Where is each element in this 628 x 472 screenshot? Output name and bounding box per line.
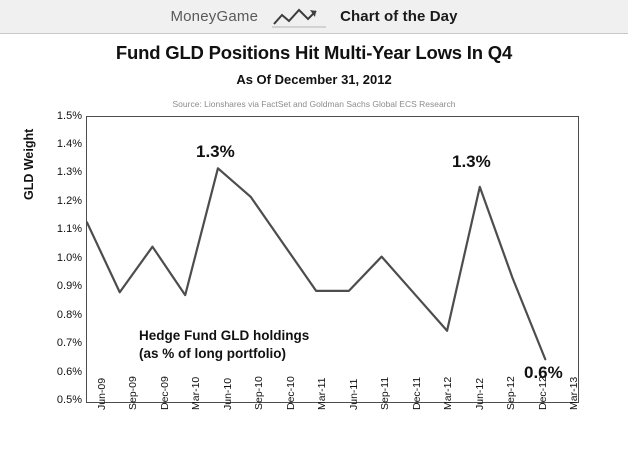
x-tick-label: Dec-09 bbox=[159, 376, 171, 410]
page-title: Fund GLD Positions Hit Multi-Year Lows I… bbox=[0, 42, 628, 64]
line-chart-arrow-icon bbox=[272, 6, 326, 28]
y-tick-label: 0.7% bbox=[40, 337, 82, 349]
chart-page: MoneyGame Chart of the Day Fund GLD Posi… bbox=[0, 0, 628, 472]
x-tick-label: Jun-12 bbox=[474, 378, 486, 410]
x-tick-label: Sep-12 bbox=[505, 376, 517, 410]
y-tick-label: 1.5% bbox=[40, 110, 82, 122]
x-tick-label: Jun-10 bbox=[222, 378, 234, 410]
y-tick-label: 1.0% bbox=[40, 252, 82, 264]
brand-label: MoneyGame bbox=[170, 8, 258, 25]
y-tick-label: 1.3% bbox=[40, 166, 82, 178]
header-inner: MoneyGame Chart of the Day bbox=[170, 6, 457, 28]
annotation-peak-2010: 1.3% bbox=[196, 142, 235, 162]
y-tick-label: 0.9% bbox=[40, 280, 82, 292]
y-tick-label: 1.2% bbox=[40, 195, 82, 207]
x-tick-label: Mar-10 bbox=[190, 377, 202, 410]
x-tick-label: Sep-09 bbox=[127, 376, 139, 410]
x-tick-label: Jun-09 bbox=[96, 378, 108, 410]
section-label: Chart of the Day bbox=[340, 8, 457, 25]
y-tick-label: 0.6% bbox=[40, 366, 82, 378]
x-tick-label: Jun-11 bbox=[348, 379, 360, 410]
y-axis-title: GLD Weight bbox=[22, 129, 36, 200]
annotation-note-line2: (as % of long portfolio) bbox=[139, 345, 286, 362]
site-header: MoneyGame Chart of the Day bbox=[0, 0, 628, 34]
source-note: Source: Lionshares via FactSet and Goldm… bbox=[0, 99, 628, 109]
y-tick-label: 1.4% bbox=[40, 138, 82, 150]
annotation-note-line1: Hedge Fund GLD holdings bbox=[139, 327, 309, 344]
x-tick-label: Sep-11 bbox=[379, 377, 391, 410]
x-tick-label: Dec-10 bbox=[285, 376, 297, 410]
page-subtitle: As Of December 31, 2012 bbox=[0, 72, 628, 87]
x-tick-label: Mar-13 bbox=[568, 377, 580, 410]
x-tick-label: Mar-11 bbox=[316, 378, 328, 410]
y-tick-label: 0.8% bbox=[40, 309, 82, 321]
annotation-peak-2012: 1.3% bbox=[452, 152, 491, 172]
y-tick-label: 1.1% bbox=[40, 223, 82, 235]
x-tick-label: Mar-12 bbox=[442, 377, 454, 410]
annotation-low-2012: 0.6% bbox=[524, 363, 563, 383]
x-tick-label: Sep-10 bbox=[253, 376, 265, 410]
y-tick-label: 0.5% bbox=[40, 394, 82, 406]
x-tick-label: Dec-11 bbox=[411, 377, 423, 410]
